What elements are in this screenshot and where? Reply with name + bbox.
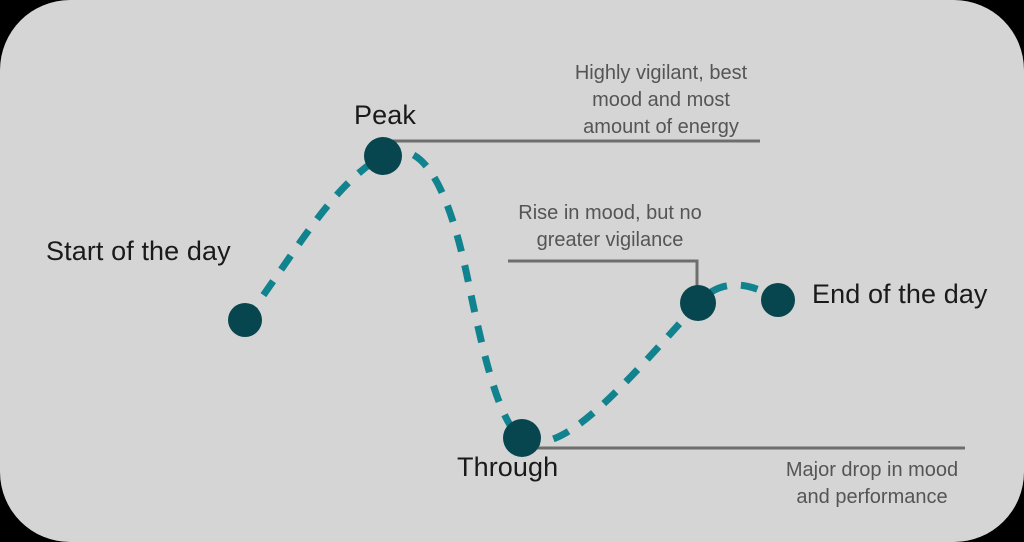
label-peak: Peak — [354, 100, 416, 132]
annotation-rise: Rise in mood, but no greater vigilance — [505, 200, 715, 254]
diagram-card: Start of the day Peak Through End of the… — [0, 0, 1024, 542]
annotation-drop: Major drop in mood and performance — [772, 457, 972, 511]
data-point-rise[interactable] — [680, 285, 716, 321]
label-end-of-day: End of the day — [812, 279, 988, 311]
label-trough: Through — [457, 452, 558, 484]
data-point-start[interactable] — [228, 303, 262, 337]
data-point-peak[interactable] — [364, 137, 402, 175]
leader-line-rise — [508, 261, 697, 300]
data-point-end[interactable] — [761, 283, 795, 317]
annotation-peak: Highly vigilant, best mood and most amou… — [556, 60, 766, 141]
diagram-canvas: Start of the day Peak Through End of the… — [0, 0, 1024, 542]
label-start-of-day: Start of the day — [46, 236, 231, 268]
